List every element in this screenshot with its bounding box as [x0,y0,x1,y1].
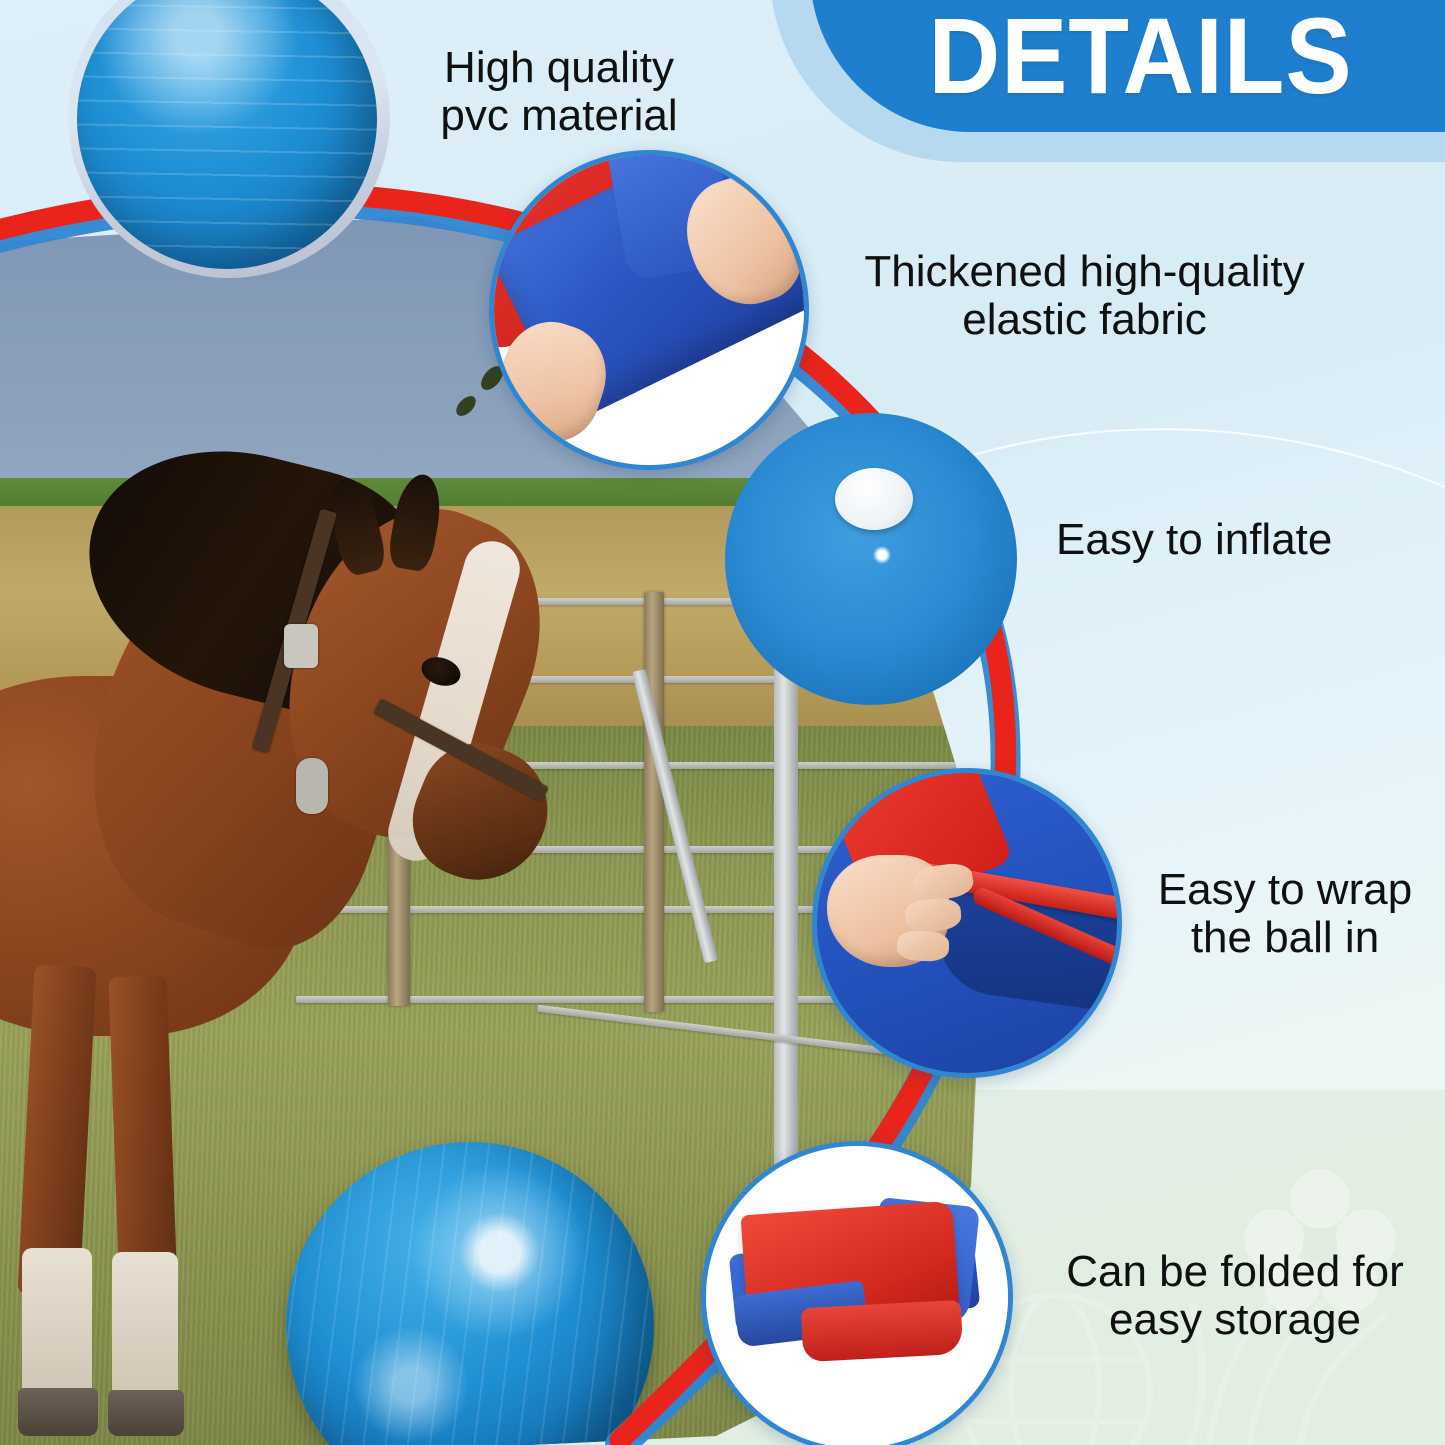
feature-label-easy-storage: Can be folded for easy storage [1030,1248,1440,1343]
details-infographic: DETAILS High quality pvc material Thicke… [0,0,1445,1445]
exercise-ball-icon [77,0,377,269]
horse-bridle-ring [296,758,328,814]
feature-image-easy-inflate [725,413,1017,705]
feature-label-easy-wrap: Easy to wrap the ball in [1135,866,1435,961]
feature-image-easy-wrap [812,768,1122,1078]
finger [896,930,949,962]
deflated-ball [725,413,1017,705]
exercise-ball-in-scene [286,1142,654,1445]
feature-label-elastic-fabric: Thickened high-quality elastic fabric [812,248,1357,343]
horse-sock [112,1252,178,1400]
valve-icon [835,468,913,530]
horse-hoof [18,1388,98,1436]
feature-label-easy-inflate: Easy to inflate [1056,516,1406,564]
horse-bridle-buckle [284,624,318,668]
horse-leg [108,975,177,1297]
highlight-spark [873,546,891,564]
fence-post [644,592,664,1012]
horse-sock [22,1248,92,1398]
feature-image-easy-storage [701,1141,1013,1445]
feature-image-pvc-material [68,0,390,278]
folded-red-fabric [801,1300,964,1362]
horse-hoof [108,1390,184,1436]
details-banner: DETAILS [810,0,1445,132]
page-title: DETAILS [928,2,1352,132]
feature-label-pvc-material: High quality pvc material [404,44,714,139]
